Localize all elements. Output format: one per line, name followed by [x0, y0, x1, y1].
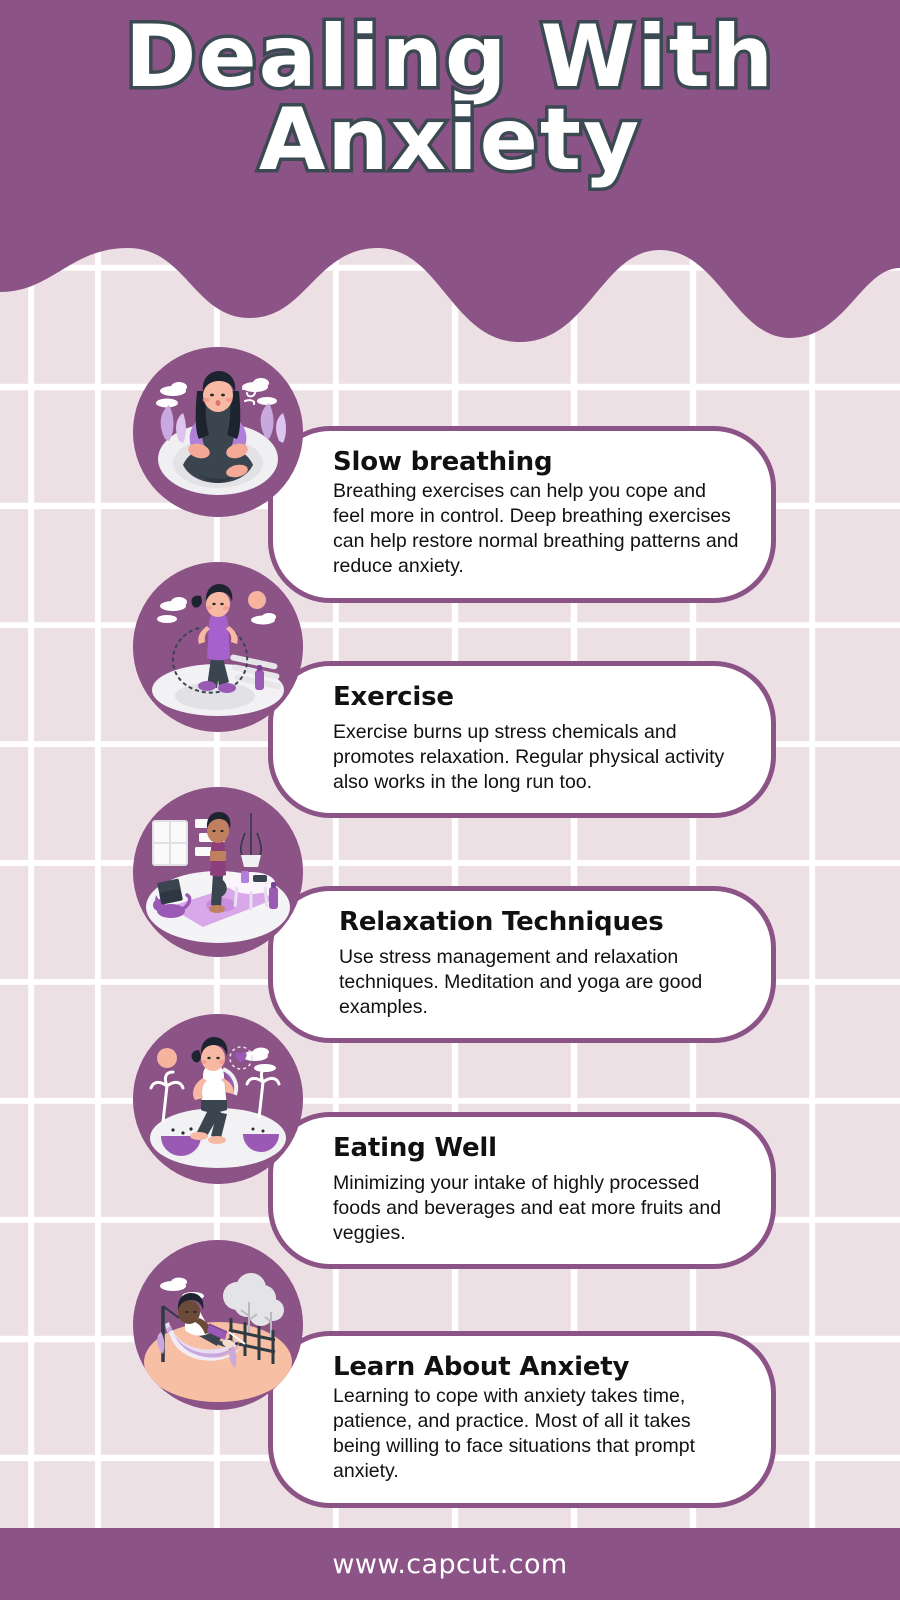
- card-title: Learn About Anxiety: [333, 1352, 741, 1382]
- card-title: Relaxation Techniques: [333, 907, 741, 937]
- woman-eating-watermelon-icon: [133, 1014, 303, 1184]
- header-wave-shape: [0, 0, 900, 345]
- info-card[interactable]: Relaxation Techniques Use stress managem…: [268, 886, 776, 1043]
- footer-bar: www.capcut.com: [0, 1528, 900, 1600]
- woman-doing-yoga-icon: [133, 787, 303, 957]
- woman-reading-in-hammock-icon: [133, 1240, 303, 1410]
- info-card[interactable]: Learn About Anxiety Learning to cope wit…: [268, 1331, 776, 1508]
- card-title: Exercise: [333, 682, 741, 712]
- info-card[interactable]: Slow breathing Breathing exercises can h…: [268, 426, 776, 603]
- card-title: Eating Well: [333, 1133, 741, 1163]
- info-card[interactable]: Exercise Exercise burns up stress chemic…: [268, 661, 776, 818]
- card-body: Minimizing your intake of highly process…: [333, 1171, 741, 1246]
- woman-meditating-icon: [133, 347, 303, 517]
- card-title: Slow breathing: [333, 447, 741, 477]
- card-body: Use stress management and relaxation tec…: [333, 945, 741, 1020]
- header-banner: Dealing With Anxiety: [0, 0, 900, 345]
- footer-url[interactable]: www.capcut.com: [332, 1549, 567, 1580]
- info-card[interactable]: Eating Well Minimizing your intake of hi…: [268, 1112, 776, 1269]
- woman-jumping-rope-icon: [133, 562, 303, 732]
- card-body: Learning to cope with anxiety takes time…: [333, 1384, 741, 1485]
- card-body: Breathing exercises can help you cope an…: [333, 479, 741, 580]
- card-body: Exercise burns up stress chemicals and p…: [333, 720, 741, 795]
